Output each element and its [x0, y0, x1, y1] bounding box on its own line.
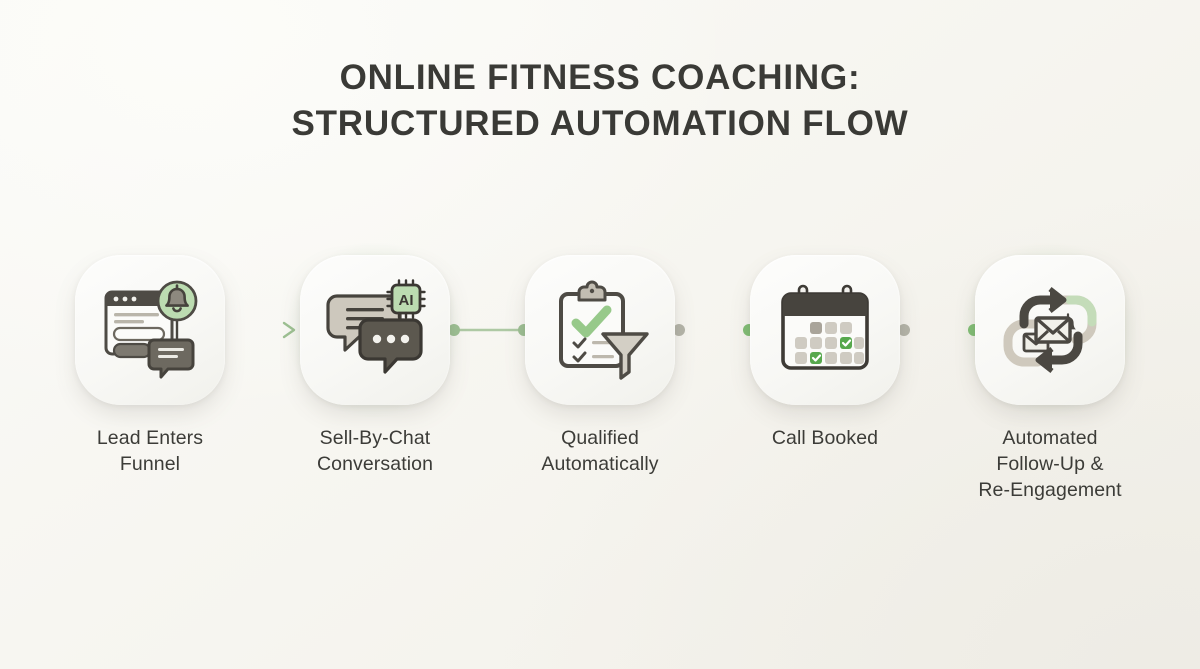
step-label-5-line-3: Re-Engagement: [925, 477, 1175, 503]
step-card-5[interactable]: [975, 255, 1125, 405]
envelope-large-icon: [1036, 318, 1070, 342]
connector-3-line: [673, 321, 755, 339]
flow-diagram: AI: [0, 255, 1200, 425]
step-label-2-line-2: Conversation: [250, 451, 500, 477]
step-label-5-line-2: Follow-Up &: [925, 451, 1175, 477]
step-card-4[interactable]: [750, 255, 900, 405]
step-label-2: Sell-By-Chat Conversation: [250, 425, 500, 477]
step-label-4: Call Booked: [700, 425, 950, 451]
page-title: ONLINE FITNESS COACHING: STRUCTURED AUTO…: [0, 55, 1200, 147]
step-label-4-line-1: Call Booked: [700, 425, 950, 451]
step-card-1[interactable]: [75, 255, 225, 405]
connector-1-arrow: [222, 321, 308, 339]
ai-chip-label: AI: [399, 292, 414, 309]
automation-loop-email-icon: [998, 278, 1102, 382]
ai-chip-icon: AI: [388, 281, 425, 318]
calendar-icon: [773, 278, 877, 382]
step-label-1-line-1: Lead Enters: [25, 425, 275, 451]
connector-2-line: [448, 321, 530, 339]
step-card-2[interactable]: AI: [300, 255, 450, 405]
step-label-1-line-2: Funnel: [25, 451, 275, 477]
infographic-canvas: ONLINE FITNESS COACHING: STRUCTURED AUTO…: [0, 0, 1200, 669]
step-label-3: Qualified Automatically: [475, 425, 725, 477]
step-card-3[interactable]: [525, 255, 675, 405]
step-label-5: Automated Follow-Up & Re-Engagement: [925, 425, 1175, 503]
ai-chat-bubbles-icon: AI: [323, 278, 427, 382]
connector-4-line: [898, 321, 980, 339]
step-label-3-line-2: Automatically: [475, 451, 725, 477]
step-label-3-line-1: Qualified: [475, 425, 725, 451]
lead-capture-form-icon: [98, 278, 202, 382]
clipboard-funnel-icon: [548, 278, 652, 382]
step-label-1: Lead Enters Funnel: [25, 425, 275, 477]
title-line-1: ONLINE FITNESS COACHING:: [0, 55, 1200, 101]
step-label-5-line-1: Automated: [925, 425, 1175, 451]
title-line-2: STRUCTURED AUTOMATION FLOW: [0, 101, 1200, 147]
step-label-2-line-1: Sell-By-Chat: [250, 425, 500, 451]
